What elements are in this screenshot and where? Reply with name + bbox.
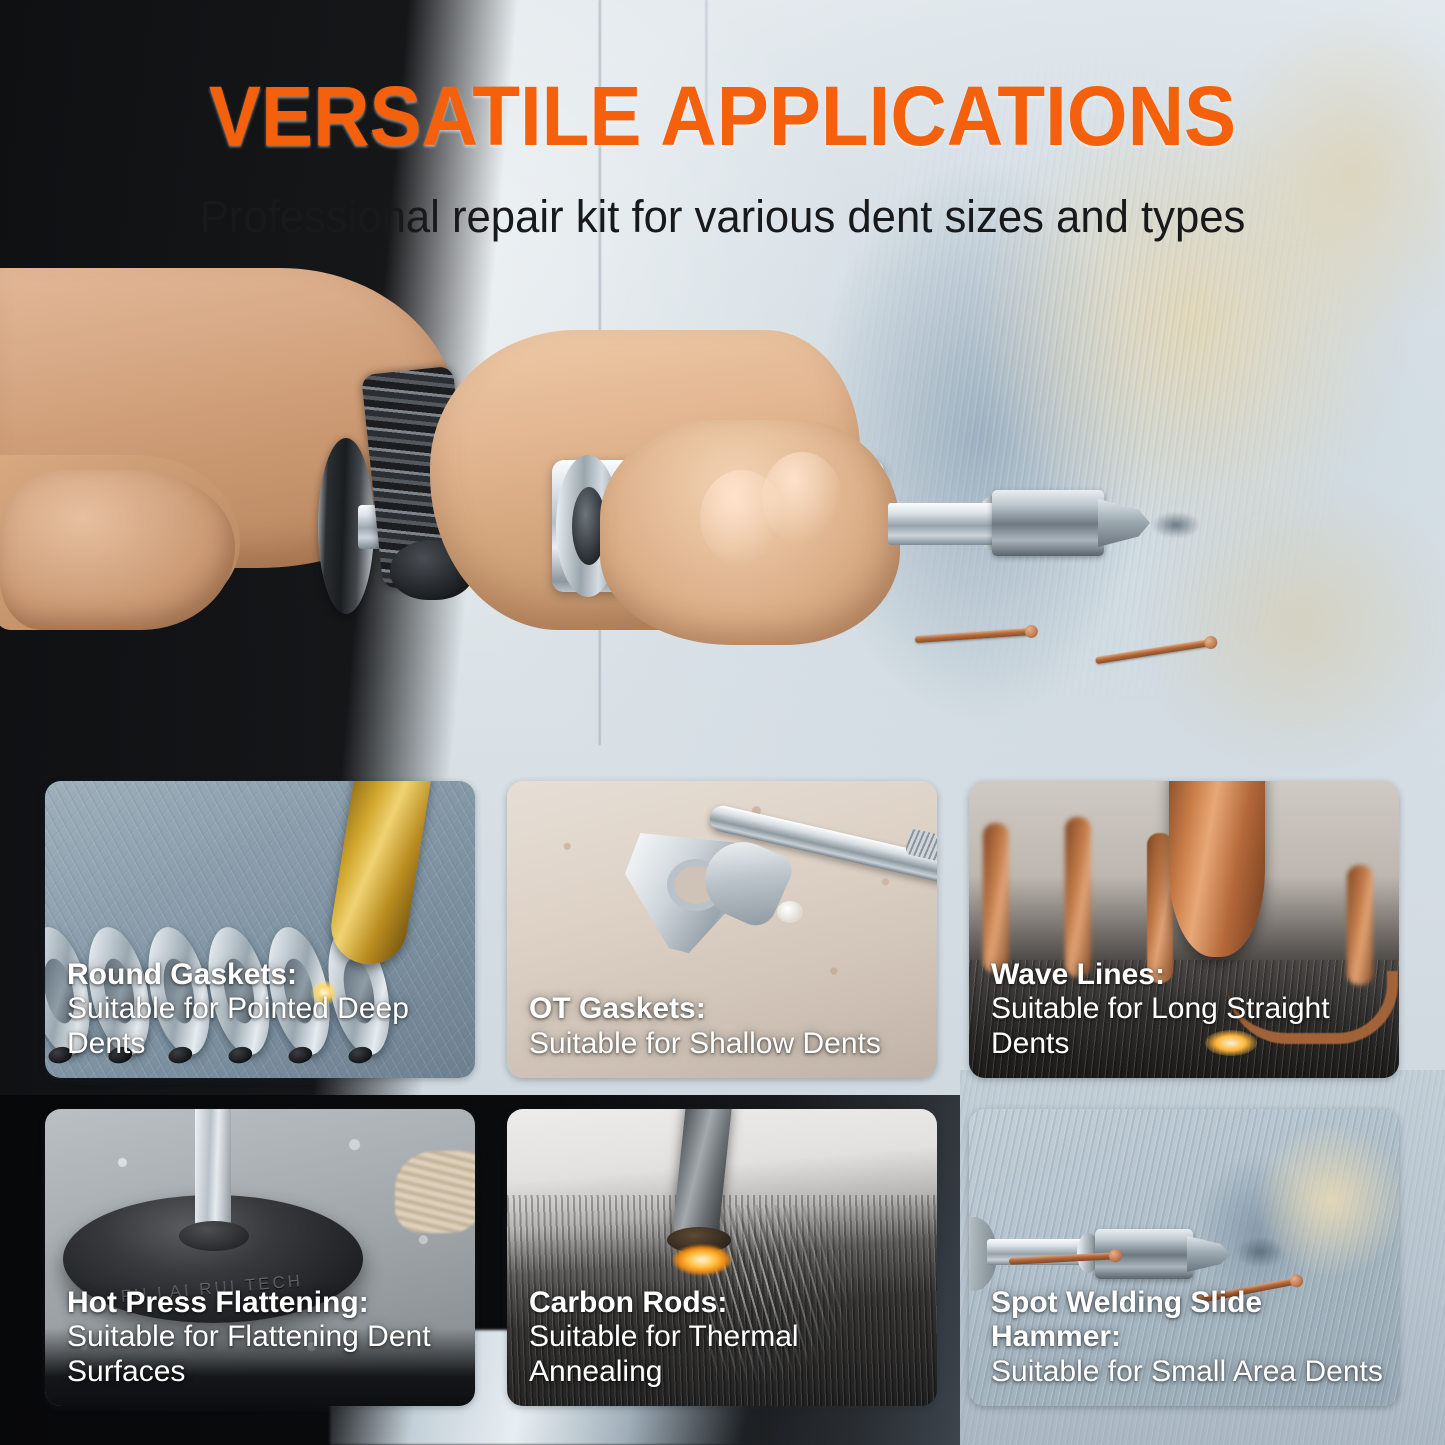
- card-description: Suitable for Pointed Deep Dents: [67, 992, 461, 1062]
- card-caption: Carbon Rods: Suitable for Thermal Anneal…: [529, 1286, 923, 1390]
- card-description: Suitable for Long Straight Dents: [991, 992, 1385, 1062]
- hex-welding-tip-body: [992, 490, 1104, 556]
- weld-spot-mark: [1237, 1237, 1283, 1267]
- press-pad-stem: [195, 1109, 231, 1229]
- card-caption: Hot Press Flattening: Suitable for Flatt…: [67, 1286, 461, 1390]
- feature-card-round-gaskets[interactable]: Round Gaskets: Suitable for Pointed Deep…: [45, 781, 475, 1078]
- knuckle-2: [762, 452, 842, 544]
- feature-card-grid: Round Gaskets: Suitable for Pointed Deep…: [45, 781, 1400, 1406]
- ot-puller-tip: [777, 901, 803, 923]
- copper-pin-blur-1: [983, 823, 1009, 973]
- feature-card-hot-press-flattening[interactable]: FU LAI RUI TECH Hot Press Flattening: Su…: [45, 1109, 475, 1406]
- card-title: Wave Lines:: [991, 958, 1385, 993]
- card-caption: Spot Welding Slide Hammer: Suitable for …: [991, 1286, 1385, 1390]
- card-description: Suitable for Thermal Annealing: [529, 1320, 923, 1390]
- infographic-canvas: VERSATILE APPLICATIONS Professional repa…: [0, 0, 1445, 1445]
- card-caption: Round Gaskets: Suitable for Pointed Deep…: [67, 958, 461, 1062]
- card-title: Round Gaskets:: [67, 958, 461, 993]
- hot-glow: [673, 1245, 731, 1275]
- page-title: VERSATILE APPLICATIONS: [51, 74, 1395, 158]
- feature-card-spot-welding-slide-hammer[interactable]: Spot Welding Slide Hammer: Suitable for …: [969, 1109, 1399, 1406]
- feature-card-wave-lines[interactable]: Wave Lines: Suitable for Long Straight D…: [969, 781, 1399, 1078]
- card-description: Suitable for Small Area Dents: [991, 1355, 1385, 1390]
- card-title: OT Gaskets:: [529, 992, 923, 1027]
- page-subtitle: Professional repair kit for various dent…: [22, 192, 1424, 242]
- copper-welding-tool: [1169, 781, 1265, 957]
- weld-spot-mark: [1152, 512, 1200, 538]
- left-fist: [0, 470, 235, 630]
- card-title: Hot Press Flattening:: [67, 1286, 461, 1321]
- card-caption: Wave Lines: Suitable for Long Straight D…: [991, 958, 1385, 1062]
- press-pad-hub: [179, 1221, 249, 1251]
- card-title: Carbon Rods:: [529, 1286, 923, 1321]
- card-description: Suitable for Shallow Dents: [529, 1027, 923, 1062]
- copper-pin-blur-2: [1065, 817, 1091, 977]
- card-description: Suitable for Flattening Dent Surfaces: [67, 1320, 461, 1390]
- feature-card-ot-gaskets[interactable]: OT Gaskets: Suitable for Shallow Dents: [507, 781, 937, 1078]
- card-caption: OT Gaskets: Suitable for Shallow Dents: [529, 992, 923, 1062]
- work-glove: [395, 1151, 475, 1233]
- brass-welding-electrode: [326, 781, 432, 970]
- feature-card-carbon-rods[interactable]: Carbon Rods: Suitable for Thermal Anneal…: [507, 1109, 937, 1406]
- card-title: Spot Welding Slide Hammer:: [991, 1286, 1385, 1356]
